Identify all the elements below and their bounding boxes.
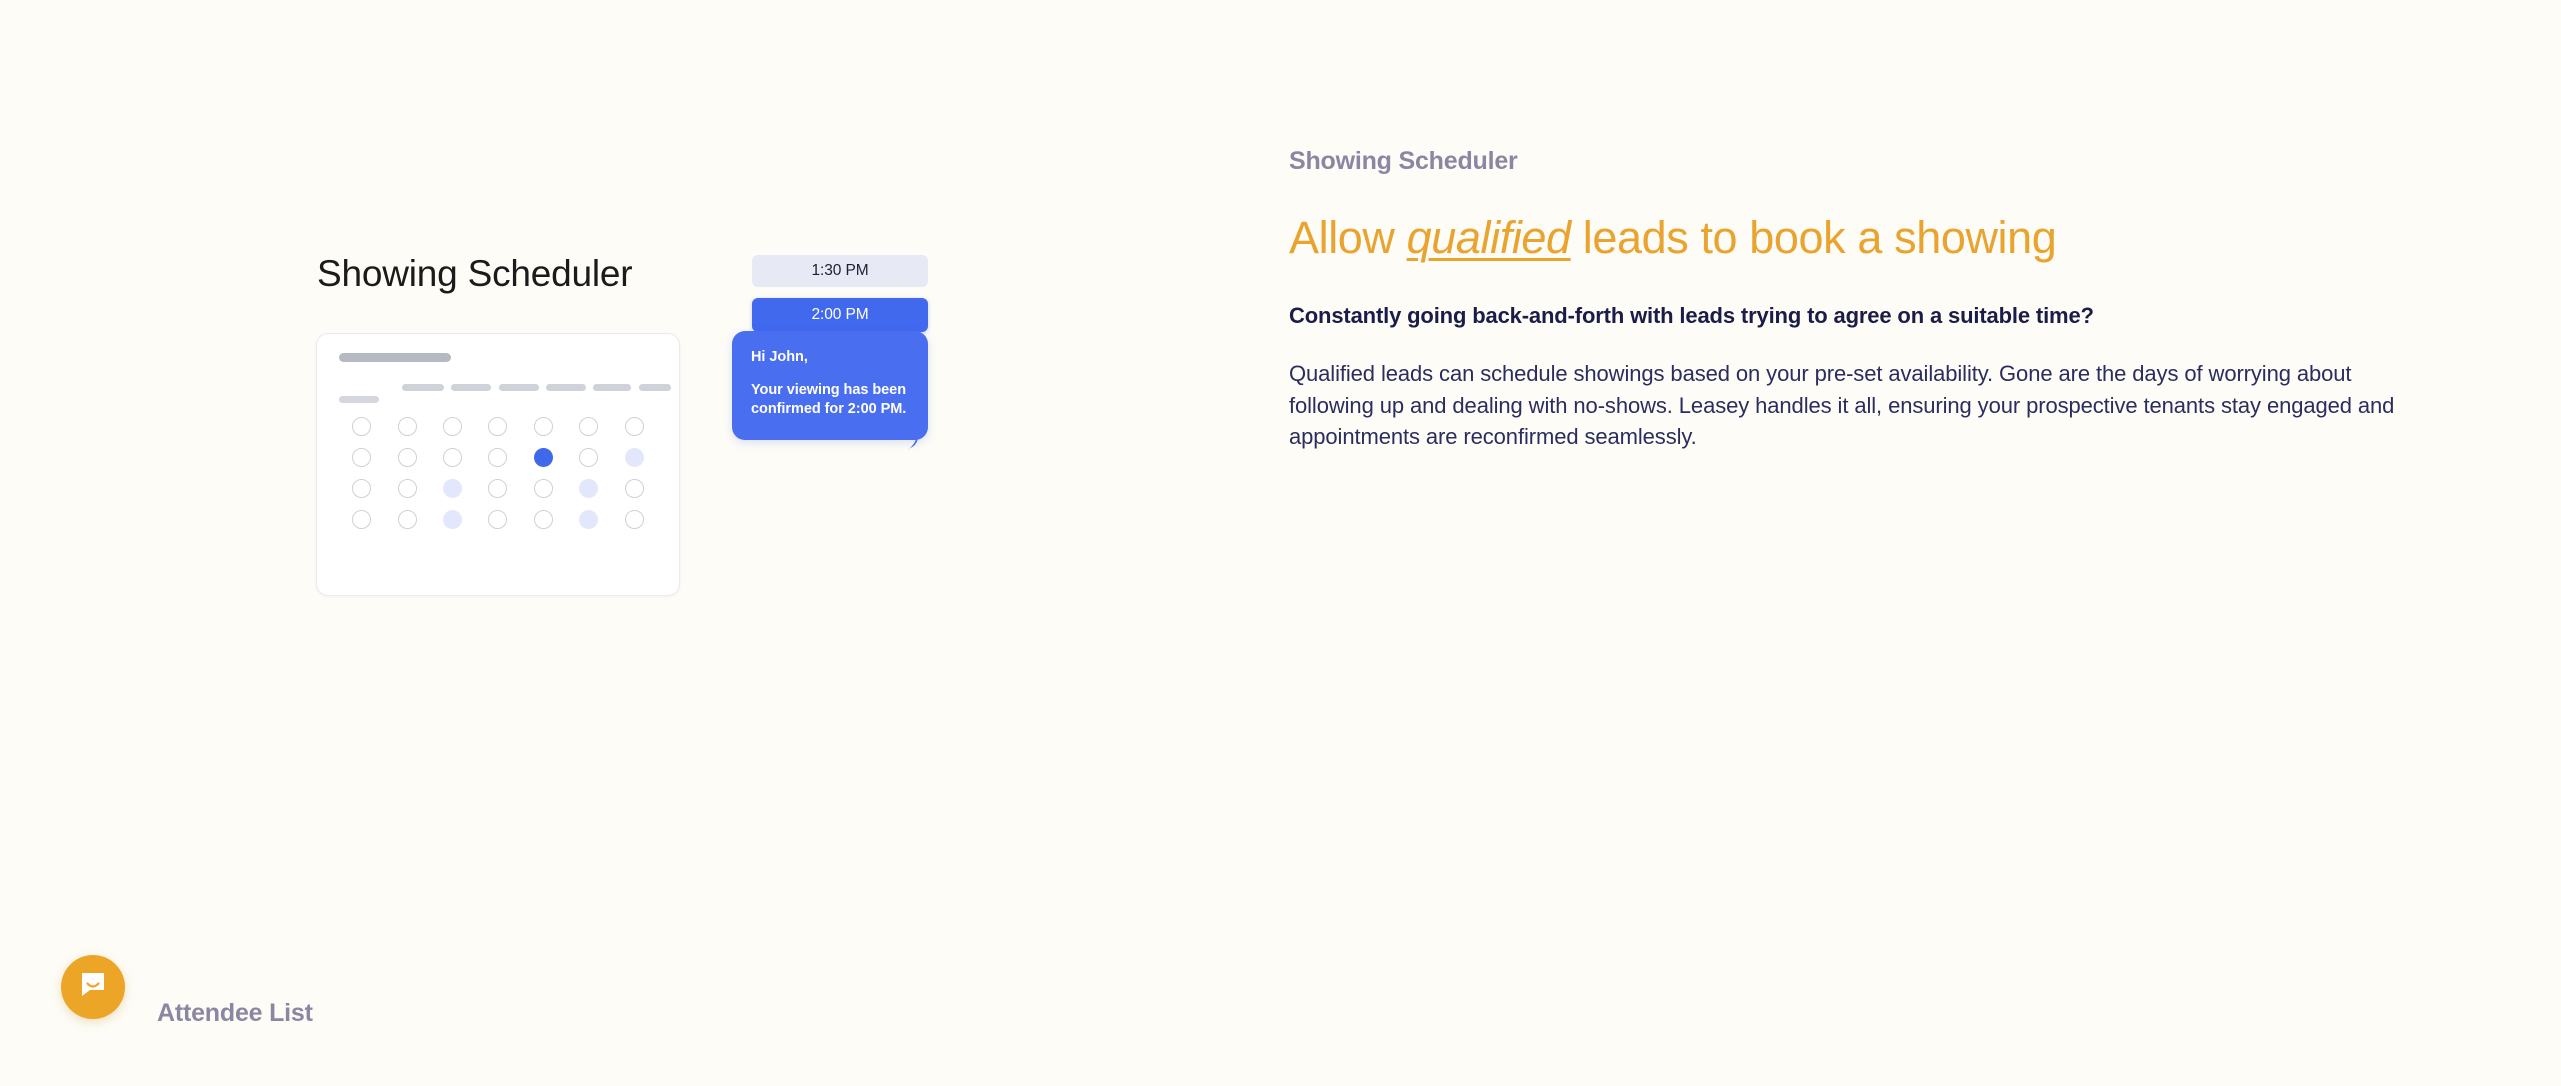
calendar-day-1-2[interactable] (398, 417, 417, 436)
chat-launcher-button[interactable] (61, 955, 125, 1019)
calendar-day-4-4[interactable] (488, 510, 507, 529)
calendar-day-4-3[interactable] (443, 510, 462, 529)
calendar-day-4-2[interactable] (398, 510, 417, 529)
feature-paragraph: Qualified leads can schedule showings ba… (1289, 358, 2409, 454)
calendar-day-1-4[interactable] (488, 417, 507, 436)
calendar-day-3-5[interactable] (534, 479, 553, 498)
showing-scheduler-illustration: Showing Scheduler 1:30 PM2:00 PM2:30 PM3… (316, 255, 1016, 705)
time-slot-2[interactable]: 2:00 PM (752, 298, 928, 332)
feature-subheading: Constantly going back-and-forth with lea… (1289, 300, 2289, 332)
calendar-day-2-7[interactable] (625, 448, 644, 467)
weekday-placeholder (499, 384, 539, 391)
calendar-day-1-7[interactable] (625, 417, 644, 436)
weekday-placeholder (593, 384, 631, 391)
weekday-placeholder (639, 384, 671, 391)
calendar-day-2-6[interactable] (579, 448, 598, 467)
calendar-day-4-6[interactable] (579, 510, 598, 529)
calendar-day-2-3[interactable] (443, 448, 462, 467)
calendar-day-3-1[interactable] (352, 479, 371, 498)
weekday-placeholder (402, 384, 444, 391)
calendar-day-4-1[interactable] (352, 510, 371, 529)
calendar-day-3-7[interactable] (625, 479, 644, 498)
bubble-body: Your viewing has been confirmed for 2:00… (751, 381, 909, 420)
calendar-card (316, 333, 680, 596)
feature-copy-block: Showing Scheduler Allow qualified leads … (1289, 146, 2429, 453)
calendar-day-4-7[interactable] (625, 510, 644, 529)
calendar-day-1-1[interactable] (352, 417, 371, 436)
confirmation-bubble-wrapper: Hi John, Your viewing has been confirmed… (732, 331, 928, 440)
feature-eyebrow: Showing Scheduler (1289, 146, 2429, 176)
weekday-placeholder (451, 384, 491, 391)
calendar-day-4-5[interactable] (534, 510, 553, 529)
weekday-placeholder (546, 384, 586, 391)
bubble-greeting: Hi John, (751, 348, 909, 368)
chat-bubble-icon (78, 970, 108, 1005)
page-root: Showing Scheduler 1:30 PM2:00 PM2:30 PM3… (0, 0, 2561, 1086)
calendar-day-3-2[interactable] (398, 479, 417, 498)
calendar-day-2-1[interactable] (352, 448, 371, 467)
calendar-day-3-6[interactable] (579, 479, 598, 498)
calendar-weekday-row (339, 379, 657, 409)
weekday-placeholder (339, 396, 379, 403)
calendar-day-2-5[interactable] (534, 448, 553, 467)
calendar-day-1-3[interactable] (443, 417, 462, 436)
bubble-tail-icon (894, 427, 924, 453)
calendar-day-2-4[interactable] (488, 448, 507, 467)
headline-emphasis: qualified (1407, 212, 1571, 263)
attendee-list-label: Attendee List (157, 999, 313, 1028)
calendar-title-placeholder (339, 353, 451, 362)
headline-text-after: leads to book a showing (1571, 212, 2057, 263)
feature-headline: Allow qualified leads to book a showing (1289, 212, 2429, 264)
calendar-day-3-4[interactable] (488, 479, 507, 498)
calendar-day-1-6[interactable] (579, 417, 598, 436)
calendar-day-3-3[interactable] (443, 479, 462, 498)
confirmation-message-bubble: Hi John, Your viewing has been confirmed… (732, 331, 928, 440)
headline-text-before: Allow (1289, 212, 1407, 263)
time-slot-1[interactable]: 1:30 PM (752, 255, 928, 287)
calendar-day-grid[interactable] (339, 411, 657, 535)
calendar-day-1-5[interactable] (534, 417, 553, 436)
calendar-day-2-2[interactable] (398, 448, 417, 467)
